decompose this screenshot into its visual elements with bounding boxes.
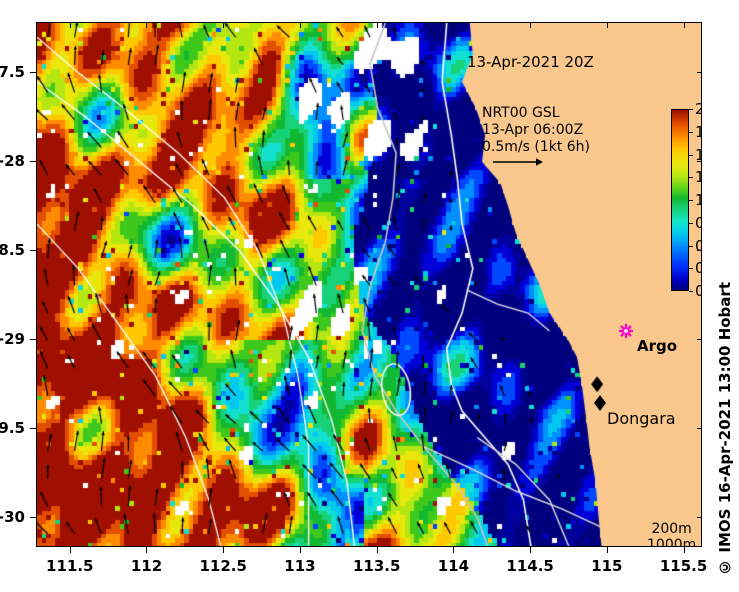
colorbar-gradient — [671, 109, 689, 291]
y-tick — [30, 339, 36, 340]
y-tick-right — [697, 250, 702, 251]
vector-legend-line-2: 13-Apr 06:00Z — [482, 122, 590, 139]
depth-legend-200m: 200m — [647, 521, 696, 537]
x-tick — [607, 547, 608, 553]
colorbar-tick — [689, 109, 693, 110]
colorbar: 21.751.51.2510.750.50.250 — [671, 109, 689, 291]
right-arrow-icon — [492, 153, 544, 172]
y-tick-label: -29 — [0, 330, 25, 348]
map-plot-area: 13-Apr-2021 20Z NRT00 GSL 13-Apr 06:00Z … — [36, 22, 702, 547]
colorbar-tick-label: 0.75 — [695, 214, 702, 232]
colorbar-tick — [689, 132, 693, 133]
x-tick-label: 114 — [438, 557, 469, 575]
x-tick — [300, 547, 301, 553]
x-tick-top — [223, 23, 224, 28]
colorbar-tick — [689, 246, 693, 247]
x-tick-label: 113.5 — [353, 557, 400, 575]
sst-age-raster — [37, 23, 702, 547]
x-tick-label: 111.5 — [46, 557, 93, 575]
depth-legend-1000m: 1000m — [647, 537, 696, 547]
sst-age-map-figure: 13-Apr-2021 20Z NRT00 GSL 13-Apr 06:00Z … — [0, 0, 739, 592]
y-tick — [30, 250, 36, 251]
x-tick — [377, 547, 378, 553]
x-tick — [70, 547, 71, 553]
colorbar-tick — [689, 200, 693, 201]
x-tick-top — [300, 23, 301, 28]
copyright-credit: © IMOS 16-Apr-2021 13:00 Hobart — [716, 282, 734, 576]
colorbar-tick-label: 1.25 — [695, 168, 702, 186]
x-tick-top — [377, 23, 378, 28]
current-vector-legend: NRT00 GSL 13-Apr 06:00Z 0.5m/s (1kt 6h) — [482, 105, 590, 156]
vector-legend-line-1: NRT00 GSL — [482, 105, 590, 122]
colorbar-tick-label: 0 — [695, 282, 702, 300]
colorbar-tick-label: 0.5 — [695, 237, 702, 255]
argo-star-icon — [618, 323, 634, 343]
x-tick-top — [684, 23, 685, 28]
colorbar-tick — [689, 155, 693, 156]
x-tick-label: 115 — [591, 557, 622, 575]
colorbar-tick — [689, 291, 693, 292]
colorbar-tick — [689, 223, 693, 224]
bathymetry-depth-legend: 200m 1000m — [647, 521, 696, 547]
colorbar-tick-label: 0.25 — [695, 259, 702, 277]
y-tick-label: -27.5 — [0, 63, 25, 81]
x-tick — [453, 547, 454, 553]
colorbar-tick-label: 1 — [695, 191, 702, 209]
colorbar-tick-label: 2 — [695, 100, 702, 118]
x-tick — [146, 547, 147, 553]
x-tick — [684, 547, 685, 553]
x-tick-top — [453, 23, 454, 28]
y-tick-right — [697, 517, 702, 518]
x-tick-label: 113 — [284, 557, 315, 575]
x-tick-label: 115.5 — [660, 557, 707, 575]
y-tick — [30, 72, 36, 73]
y-tick — [30, 517, 36, 518]
x-tick-top — [530, 23, 531, 28]
colorbar-tick-label: 1.75 — [695, 123, 702, 141]
y-tick-label: -30 — [0, 508, 25, 526]
x-tick-label: 112 — [131, 557, 162, 575]
y-tick-label: -28 — [0, 152, 25, 170]
colorbar-tick — [689, 268, 693, 269]
x-tick-label: 114.5 — [506, 557, 553, 575]
y-tick — [30, 428, 36, 429]
x-tick — [223, 547, 224, 553]
colorbar-tick — [689, 177, 693, 178]
y-tick-right — [697, 428, 702, 429]
y-tick-right — [697, 161, 702, 162]
x-tick-top — [607, 23, 608, 28]
timestamp-title: 13-Apr-2021 20Z — [467, 53, 594, 71]
x-tick — [530, 547, 531, 553]
y-tick — [30, 161, 36, 162]
x-tick-label: 112.5 — [199, 557, 246, 575]
y-tick-label: -29.5 — [0, 419, 25, 437]
x-tick-top — [70, 23, 71, 28]
y-tick-label: -28.5 — [0, 241, 25, 259]
y-tick-right — [697, 72, 702, 73]
x-tick-top — [146, 23, 147, 28]
argo-legend-label: Argo — [637, 337, 677, 355]
place-label-dongara: Dongara — [607, 409, 676, 428]
y-tick-right — [697, 339, 702, 340]
